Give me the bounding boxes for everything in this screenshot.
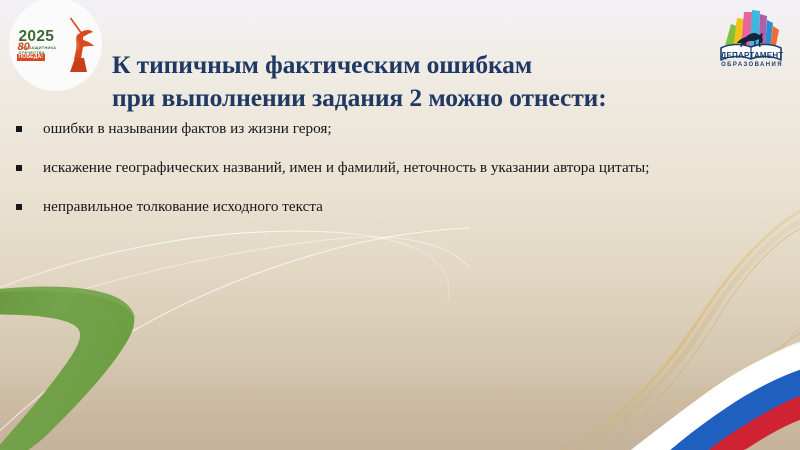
logo-year-of-defender: 2025 ГОД ЗАЩИТНИКА ОТЕЧЕСТВА 80 ПОБЕДА! <box>9 0 102 91</box>
square-bullet-icon <box>16 126 22 132</box>
list-item: искажение географических названий, имен … <box>16 158 786 177</box>
list-item-label: искажение географических названий, имен … <box>43 158 786 177</box>
bullet-list: ошибки в назывании фактов из жизни героя… <box>16 119 786 236</box>
list-item: ошибки в назывании фактов из жизни героя… <box>16 119 786 138</box>
motherland-statue-icon <box>56 16 96 72</box>
victory-emblem <box>56 16 96 72</box>
logo-anniversary-number: 80 <box>18 42 30 53</box>
title-line-1: К типичным фактическим ошибкам <box>112 48 712 81</box>
list-item-label: неправильное толкование исходного текста <box>43 197 786 216</box>
department-label-line1: ДЕПАРТАМЕНТ <box>715 52 789 60</box>
logo-victory-text: ПОБЕДА! <box>17 54 46 61</box>
slide-canvas: 2025 ГОД ЗАЩИТНИКА ОТЕЧЕСТВА 80 ПОБЕДА! <box>0 0 800 450</box>
square-bullet-icon <box>16 204 22 210</box>
green-ribbon <box>0 287 136 450</box>
russian-flag-swoosh <box>628 338 800 450</box>
square-bullet-icon <box>16 165 22 171</box>
list-item-label: ошибки в назывании фактов из жизни героя… <box>43 119 786 138</box>
pale-arc-group <box>0 228 470 450</box>
page-title: К типичным фактическим ошибкам при выпол… <box>112 48 712 114</box>
title-line-2: при выполнении задания 2 можно отнести: <box>112 81 712 114</box>
gold-curve-group <box>560 206 800 450</box>
logo-department-of-education: ДЕПАРТАМЕНТ ОБРАЗОВАНИЯ <box>715 2 789 78</box>
department-label-line2: ОБРАЗОВАНИЯ <box>715 62 789 68</box>
list-item: неправильное толкование исходного текста <box>16 197 786 216</box>
